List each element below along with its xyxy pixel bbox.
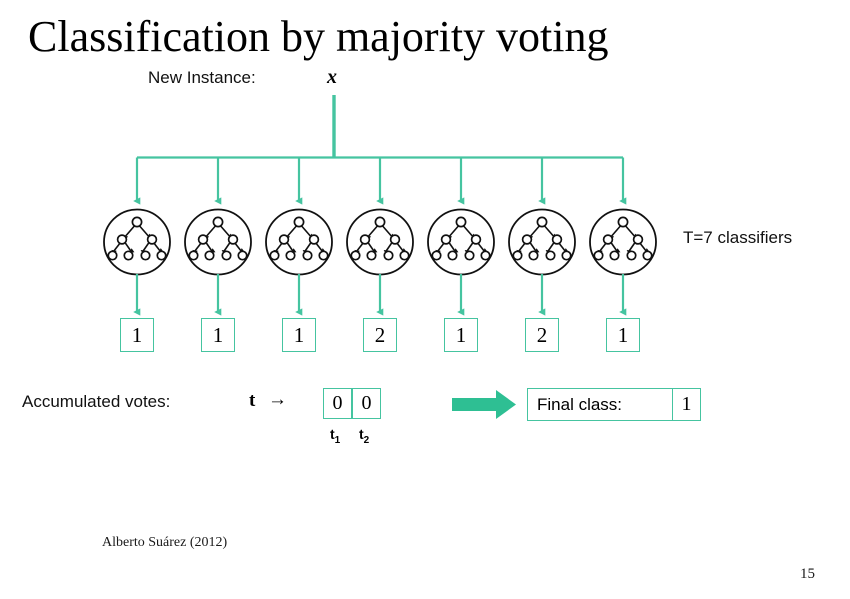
classifier-count-label: T=7 classifiers [683,228,792,248]
vote-box: 1 [120,318,154,352]
tally-vector-symbol: t [249,390,255,412]
vote-box: 1 [444,318,478,352]
vote-box: 1 [201,318,235,352]
tally-sub-label-t1: t1 [330,426,340,446]
page-number: 15 [800,566,815,583]
footer-author: Alberto Suárez (2012) [102,535,227,551]
tally-cell-t2: 0 [352,388,381,419]
ensemble-diagram [0,0,850,599]
vote-box: 1 [606,318,640,352]
tally-cell-t1: 0 [323,388,352,419]
tally-sub-label-t2: t2 [359,426,369,446]
slide-canvas: Classification by majority voting New In… [0,0,850,599]
tally-arrow-icon: → [268,389,287,411]
final-class-label: Final class: [527,388,673,421]
final-class-value: 1 [672,388,701,421]
vote-box: 1 [282,318,316,352]
vote-box: 2 [525,318,559,352]
accumulated-votes-label: Accumulated votes: [22,392,170,412]
vote-box: 2 [363,318,397,352]
block-arrow-right-icon [452,390,516,419]
